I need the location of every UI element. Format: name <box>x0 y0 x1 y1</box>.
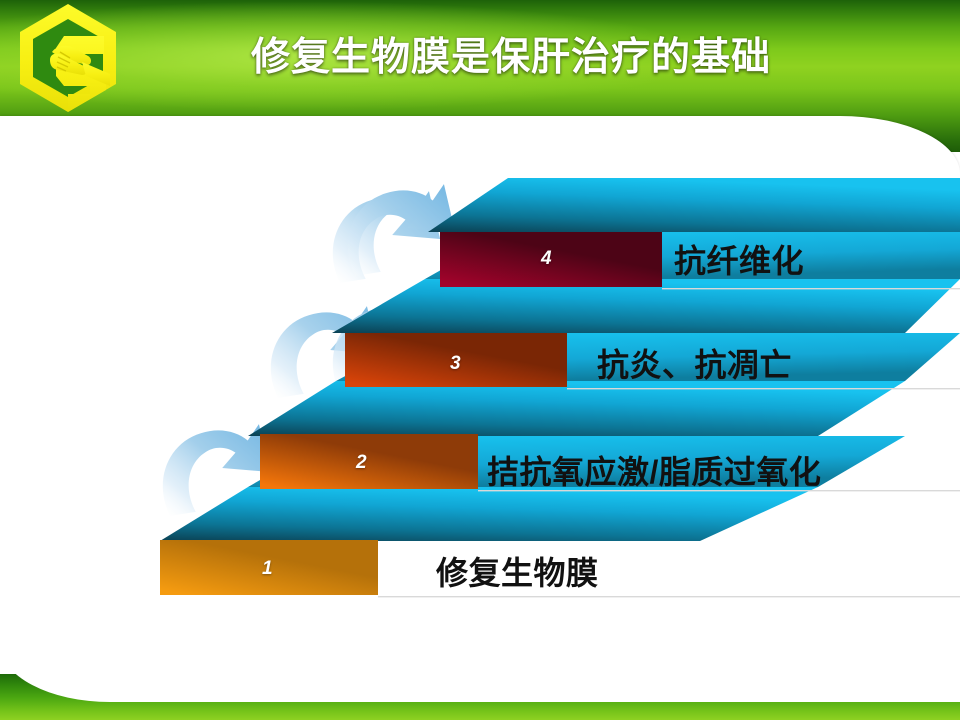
step-4-number: 4 <box>541 248 552 270</box>
footer-white-overlay <box>0 642 960 702</box>
page-title: 修复生物膜是保肝治疗的基础 <box>0 26 960 82</box>
step-1-number: 1 <box>262 558 273 580</box>
hexagon-handshake-logo <box>16 2 120 114</box>
slide: 修复生物膜是保肝治疗的基础 <box>0 0 960 720</box>
step-3-label: 抗炎、抗凋亡 <box>597 340 792 386</box>
step-2-number: 2 <box>356 452 367 474</box>
step-2-label: 拮抗氧应激/脂质过氧化 <box>487 447 821 493</box>
step-3-number: 3 <box>450 353 461 375</box>
step-1-label: 修复生物膜 <box>436 548 599 594</box>
step-4-label: 抗纤维化 <box>674 236 804 282</box>
